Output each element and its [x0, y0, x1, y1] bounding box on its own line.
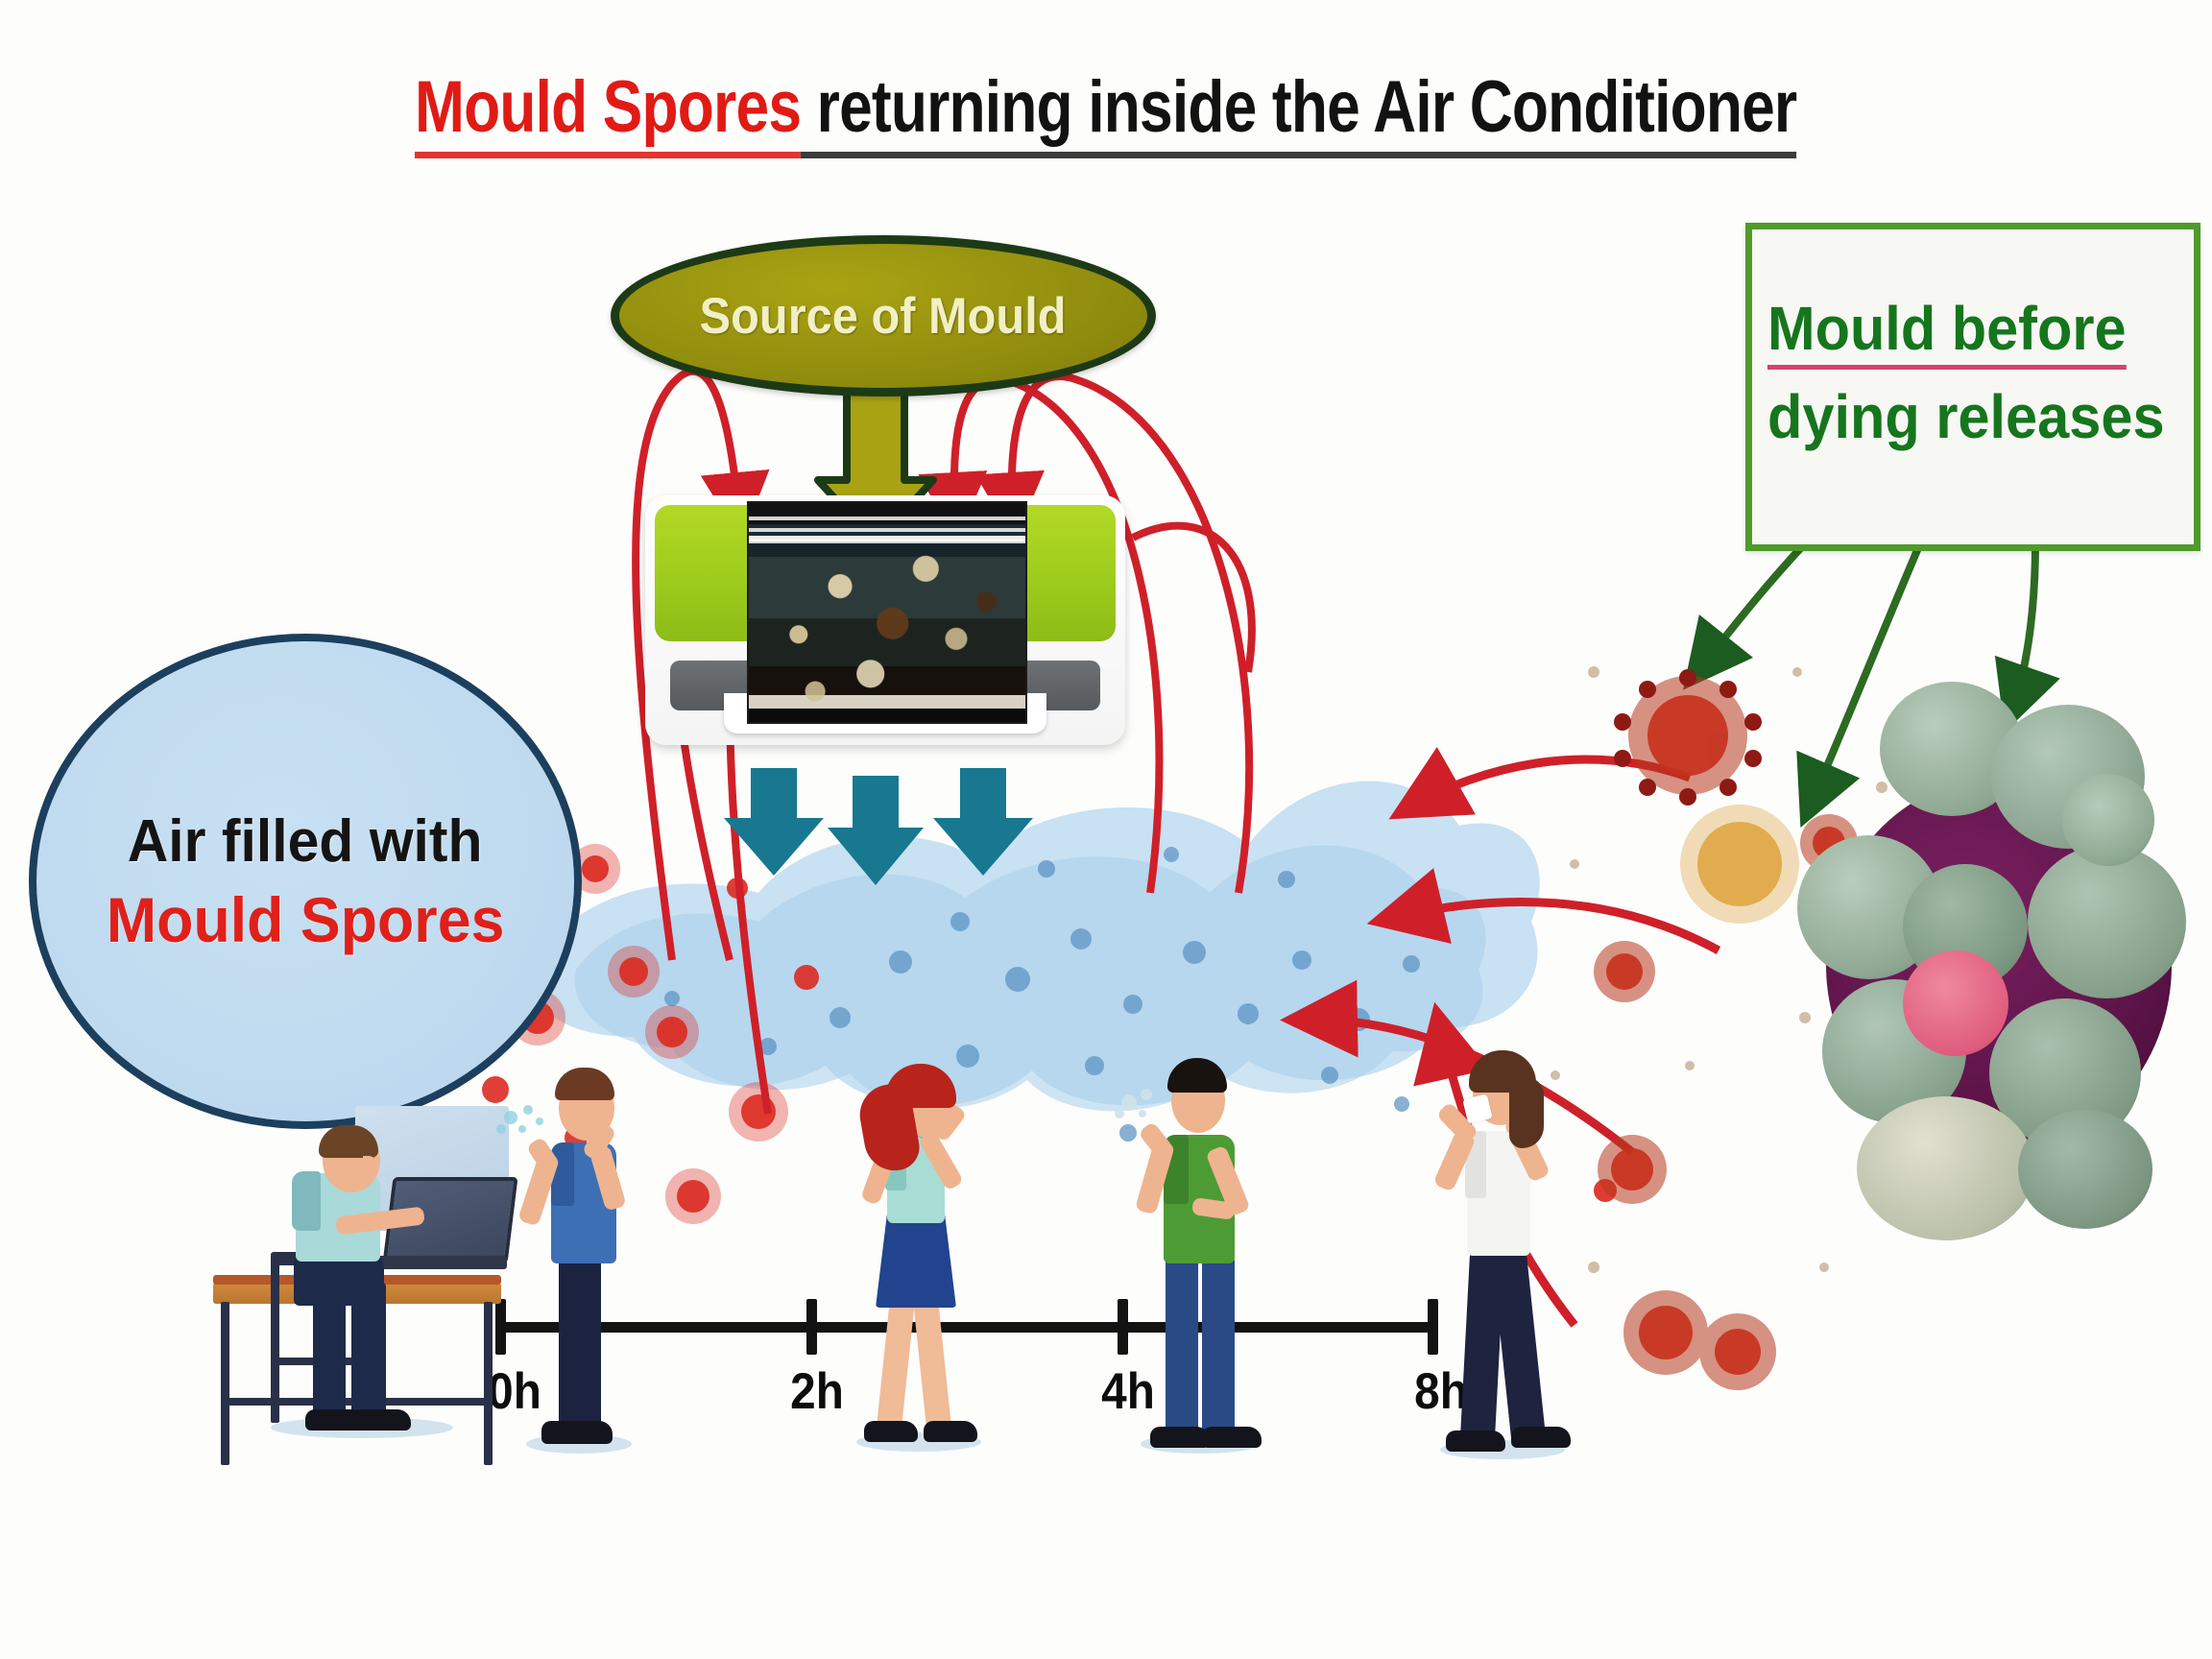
mould-colony [1788, 662, 2200, 1238]
mouldy-coil-photo [747, 501, 1027, 724]
page-title: Mould Spores returning inside the Air Co… [0, 69, 2212, 146]
release-box-line1-text: Mould before [1767, 294, 2127, 370]
person-coughing-redhair [856, 1048, 991, 1461]
release-box-line1: Mould before [1767, 293, 2127, 364]
air-conditioner-unit[interactable] [645, 495, 1125, 745]
release-box-line2: dying releases [1767, 381, 2165, 452]
air-filled-with-spores-callout[interactable]: Air filled with Mould Spores [29, 634, 582, 1129]
mould-before-dying-box[interactable]: Mould before dying releases [1745, 223, 2200, 551]
timeline-tick-2h [806, 1299, 817, 1355]
timeline-tick-4h [1118, 1299, 1128, 1355]
title-rest: returning inside the Air Conditioner [801, 66, 1796, 158]
timeline-label-2h: 2h [790, 1362, 844, 1421]
source-of-mould-callout[interactable]: Source of Mould [611, 235, 1156, 397]
person-sneezing-blue [530, 1054, 645, 1457]
person-green-tshirt [1142, 1046, 1267, 1469]
source-of-mould-label: Source of Mould [700, 287, 1067, 346]
title-highlight: Mould Spores [415, 66, 801, 158]
person-covering-face [1440, 1043, 1575, 1475]
person-seated-laptop [280, 1129, 444, 1446]
air-callout-line2: Mould Spores [107, 883, 505, 956]
infographic-canvas: Mould Spores returning inside the Air Co… [0, 0, 2212, 1659]
air-callout-line1: Air filled with [128, 807, 483, 876]
timeline-tick-8h [1428, 1299, 1438, 1355]
